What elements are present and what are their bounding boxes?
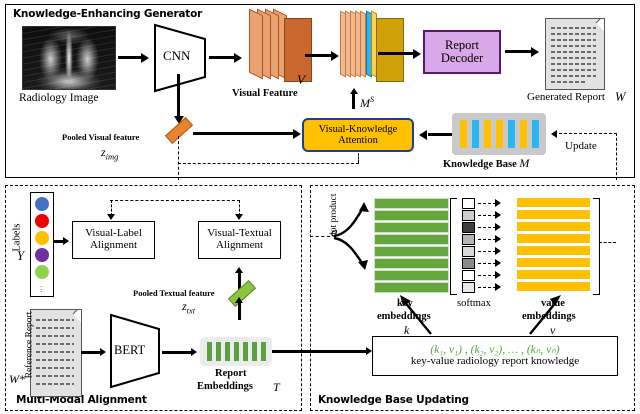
value-embeddings-block	[517, 198, 590, 297]
key-embeddings-block	[374, 198, 447, 297]
dashed-pooled-down	[178, 136, 179, 180]
arrowhead-kb-to-attention	[419, 130, 427, 140]
ms-symbol: MS	[360, 95, 374, 111]
label-dot-4	[35, 248, 49, 262]
arrow-image-to-cnn	[118, 56, 142, 59]
bracket-value-embeddings	[593, 198, 600, 295]
arrow-ms-to-decoder	[378, 52, 415, 55]
visual-textual-align-line2: Alignment	[216, 240, 263, 252]
pooled-visual-feature-symbol: zimg	[101, 145, 118, 161]
key-value-knowledge-box: (k₁, v₁) , (k₂, v₂), … , (kₙ, vₙ) key-va…	[372, 336, 618, 376]
reference-report-document	[30, 309, 82, 397]
arrowhead-decoder-to-report	[531, 47, 539, 57]
softmax-column	[462, 198, 475, 297]
arrow-embeddings-to-pooled-textual	[238, 302, 241, 320]
arrow-doc-to-bert	[81, 351, 101, 354]
visual-label-align-line2: Alignment	[90, 240, 137, 252]
report-decoder-label-line1: Report	[445, 39, 479, 53]
arrow-kv-to-key	[398, 291, 508, 336]
arrow-ms-up	[352, 93, 355, 109]
pooled-textual-feature-symbol: ztxt	[182, 299, 195, 315]
arrowhead-into-visual-label-align	[107, 214, 115, 220]
label-dot-3	[35, 231, 49, 245]
dashed-attention-left	[178, 163, 359, 164]
arrow-cnn-to-visual-feature	[209, 56, 235, 59]
visual-label-alignment-box[interactable]: Visual-Label Alignment	[72, 221, 155, 259]
labels-symbol: Y	[17, 249, 24, 264]
bracket-key-embeddings	[450, 198, 457, 295]
arrowhead-bert-to-embeddings	[191, 348, 197, 356]
arrowhead-into-visual-textual-align	[235, 214, 243, 220]
panel-title-generator: Knowledge-Enhancing Generator	[13, 8, 202, 20]
kv-caption: key-value radiology report knowledge	[411, 356, 579, 368]
dashed-branch-horizontal	[110, 200, 240, 201]
visual-textual-alignment-box[interactable]: Visual-Textual Alignment	[198, 221, 281, 259]
arrowhead-ms-up	[350, 88, 358, 94]
panel-title-kbupdate: Knowledge Base Updating	[318, 394, 469, 406]
label-dot-2	[35, 214, 49, 228]
attention-label-line1: Visual-Knowledge	[319, 124, 398, 135]
labels-column: ...	[30, 192, 54, 297]
arrowhead-cnn-to-visual-feature	[234, 53, 242, 63]
dashed-update-vertical	[616, 133, 617, 180]
report-embeddings-label-line1: Report	[215, 368, 247, 379]
report-embeddings-label-line2: Embeddings	[197, 381, 253, 392]
generated-report-symbol: W	[615, 90, 625, 105]
arrowhead-embeddings-to-pooled-textual	[235, 297, 243, 303]
generated-report-document	[545, 18, 605, 90]
reference-report-symbol: W*	[9, 372, 25, 387]
cnn-label: CNN	[163, 48, 190, 64]
arrow-pooled-to-attention	[193, 132, 295, 135]
dot-product-label: dot product	[329, 193, 339, 237]
update-label: Update	[565, 140, 597, 152]
label-dot-1	[35, 197, 49, 211]
dashed-update-horizontal	[559, 133, 617, 134]
arrow-kv-to-value	[508, 291, 618, 336]
pooled-visual-feature-label: Pooled Visual feature	[62, 132, 139, 142]
doc-folded-corner	[596, 18, 605, 33]
dashed-value-to-update	[599, 242, 616, 243]
knowledge-base-label: Knowledge Base M	[443, 156, 529, 171]
reference-report-text: Reference Report	[24, 312, 34, 379]
pooled-textual-feature-label: Pooled Textual feature	[133, 288, 215, 298]
arrow-kb-to-attention	[428, 133, 452, 136]
dashed-attention-down	[358, 153, 359, 163]
labels-text: Labels	[12, 224, 23, 252]
arrowhead-ms-to-decoder	[413, 49, 421, 59]
knowledge-base-label-text: Knowledge Base	[443, 159, 517, 170]
generated-report-label: Generated Report	[527, 91, 605, 103]
ms-symbol-base: M	[360, 96, 370, 110]
report-embeddings-block	[200, 337, 272, 366]
ms-symbol-sup: S	[370, 95, 374, 104]
arrow-visual-feature-to-ms	[305, 54, 333, 57]
arrowhead-update-into-kb	[551, 130, 557, 138]
visual-knowledge-attention-box[interactable]: Visual-Knowledge Attention	[302, 118, 414, 152]
arrowhead-image-to-cnn	[141, 53, 149, 63]
knowledge-base-symbol: M	[519, 156, 529, 170]
arrow-decoder-to-report	[505, 50, 533, 53]
label-ellipsis: ...	[40, 283, 42, 291]
z-txt-sub: txt	[187, 305, 196, 315]
report-decoder-label-line2: Decoder	[441, 52, 483, 66]
knowledge-base-block	[452, 113, 546, 155]
radiology-image-label: Radiology Image	[19, 92, 99, 104]
reference-doc-folded-corner	[73, 309, 82, 324]
arrowhead-pooled-to-attention	[293, 129, 301, 139]
z-img-sub: img	[106, 151, 119, 161]
figure-root: Knowledge-Enhancing Generator Radiology …	[0, 0, 640, 414]
arrowhead-doc-to-bert	[100, 348, 106, 356]
report-decoder-box[interactable]: Report Decoder	[423, 30, 501, 74]
visual-feature-label: Visual Feature	[232, 88, 298, 99]
label-dot-5	[35, 265, 49, 279]
radiology-image	[22, 26, 116, 90]
arrowhead-pooled-textual-up	[235, 267, 243, 273]
bert-label: BERT	[114, 343, 145, 358]
report-embeddings-symbol: T	[273, 380, 280, 395]
arrow-cnn-down	[177, 74, 180, 118]
attention-label-line2: Attention	[338, 135, 378, 146]
visual-feature-symbol: V	[297, 72, 305, 88]
arrow-bert-to-embeddings	[162, 351, 192, 354]
arrowhead-labels-to-align	[63, 237, 69, 245]
